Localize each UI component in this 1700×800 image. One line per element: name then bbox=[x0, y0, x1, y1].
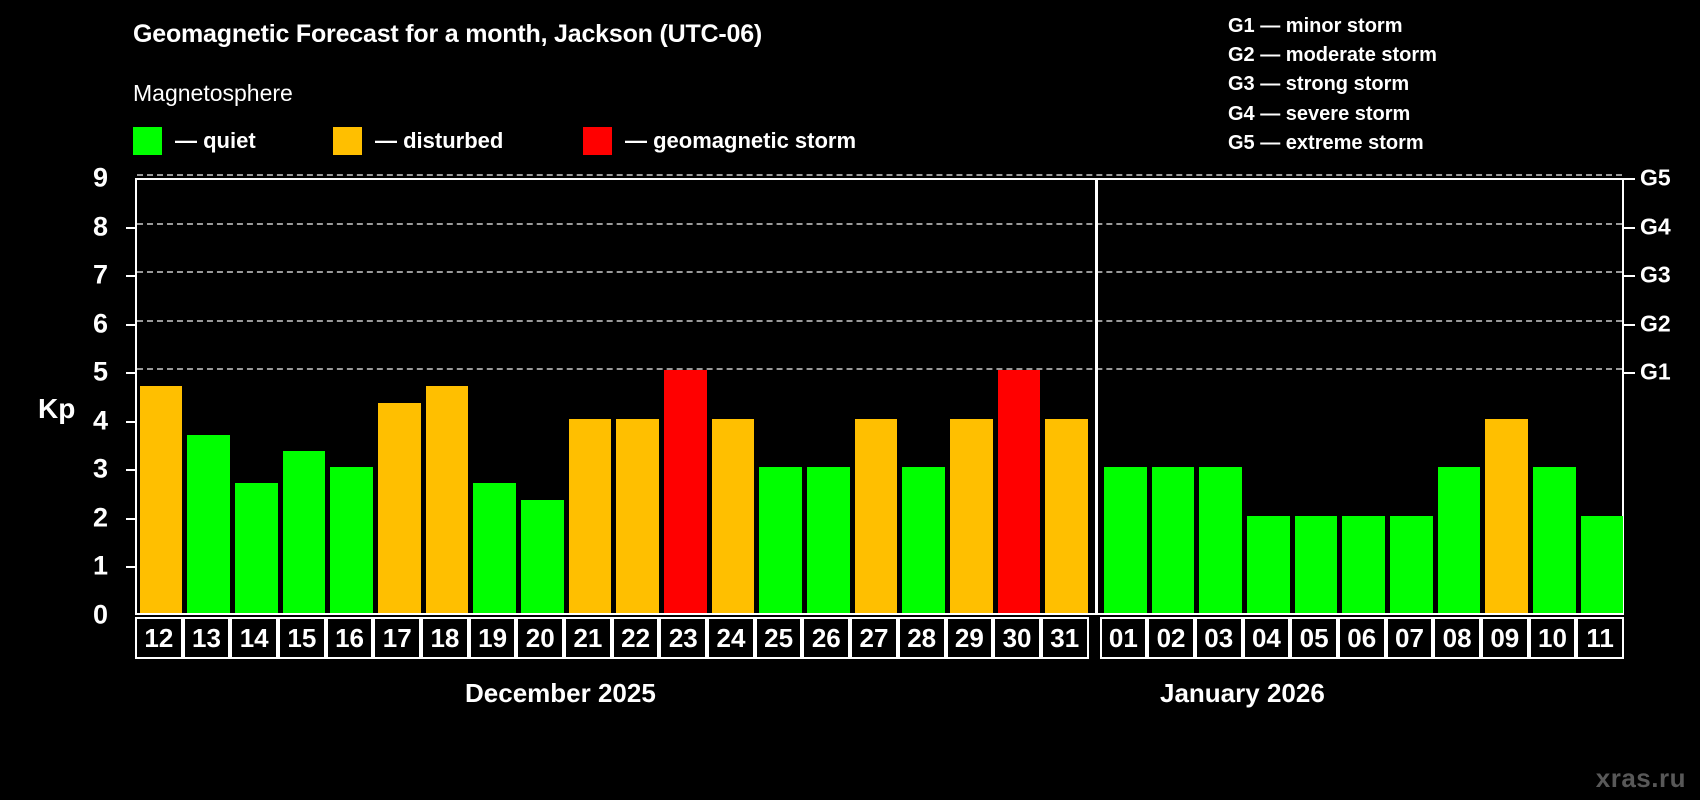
g-tick-label-G3: G3 bbox=[1640, 262, 1671, 289]
y-tick-label-8: 8 bbox=[68, 211, 108, 242]
bar-28[interactable] bbox=[902, 467, 945, 613]
day-label-19[interactable]: 19 bbox=[469, 617, 517, 659]
page-title: Geomagnetic Forecast for a month, Jackso… bbox=[133, 20, 762, 49]
g-tick-label-G5: G5 bbox=[1640, 165, 1671, 192]
legend-swatch-quiet-icon bbox=[133, 127, 162, 155]
y-tick-label-2: 2 bbox=[68, 502, 108, 533]
bar-31[interactable] bbox=[1045, 419, 1088, 613]
month-divider bbox=[1095, 178, 1098, 615]
legend-swatch-disturbed-icon bbox=[333, 127, 362, 155]
day-label-12[interactable]: 12 bbox=[135, 617, 183, 659]
bar-08[interactable] bbox=[1438, 467, 1481, 613]
bar-25[interactable] bbox=[759, 467, 802, 613]
day-label-08[interactable]: 08 bbox=[1433, 617, 1481, 659]
legend-swatch-storm-icon bbox=[583, 127, 612, 155]
y-tick-label-9: 9 bbox=[68, 163, 108, 194]
legend-item-storm: — geomagnetic storm bbox=[583, 127, 856, 155]
g-scale-row-2: G2 — moderate storm bbox=[1228, 41, 1437, 70]
day-label-20[interactable]: 20 bbox=[516, 617, 564, 659]
y-tick-label-3: 3 bbox=[68, 454, 108, 485]
y-tick-label-6: 6 bbox=[68, 308, 108, 339]
day-label-strip: 1213141516171819202122232425262728293031… bbox=[135, 617, 1624, 659]
bars-layer bbox=[137, 180, 1622, 613]
day-label-28[interactable]: 28 bbox=[898, 617, 946, 659]
g-tick-mark-G1 bbox=[1624, 372, 1635, 374]
day-label-18[interactable]: 18 bbox=[421, 617, 469, 659]
bar-01[interactable] bbox=[1104, 467, 1147, 613]
legend-label-quiet: — quiet bbox=[175, 128, 256, 154]
month-label-first: December 2025 bbox=[465, 678, 656, 709]
y-tick-label-5: 5 bbox=[68, 357, 108, 388]
day-label-05[interactable]: 05 bbox=[1290, 617, 1338, 659]
legend-item-disturbed: — disturbed bbox=[333, 127, 503, 155]
bar-26[interactable] bbox=[807, 467, 850, 613]
day-label-07[interactable]: 07 bbox=[1386, 617, 1434, 659]
bar-13[interactable] bbox=[187, 435, 230, 613]
bar-10[interactable] bbox=[1533, 467, 1576, 613]
bar-19[interactable] bbox=[473, 483, 516, 613]
day-label-16[interactable]: 16 bbox=[326, 617, 374, 659]
bar-17[interactable] bbox=[378, 403, 421, 613]
day-label-31[interactable]: 31 bbox=[1041, 617, 1089, 659]
g-scale-row-1: G1 — minor storm bbox=[1228, 12, 1437, 41]
bar-07[interactable] bbox=[1390, 516, 1433, 613]
day-label-13[interactable]: 13 bbox=[183, 617, 231, 659]
bar-27[interactable] bbox=[855, 419, 898, 613]
day-label-17[interactable]: 17 bbox=[373, 617, 421, 659]
month-label-second: January 2026 bbox=[1160, 678, 1325, 709]
day-label-02[interactable]: 02 bbox=[1147, 617, 1195, 659]
bar-23[interactable] bbox=[664, 370, 707, 613]
g-scale-row-4: G4 — severe storm bbox=[1228, 100, 1437, 129]
g-tick-mark-G2 bbox=[1624, 324, 1635, 326]
day-label-03[interactable]: 03 bbox=[1195, 617, 1243, 659]
gridline-kp-9 bbox=[137, 174, 1622, 176]
day-label-04[interactable]: 04 bbox=[1243, 617, 1291, 659]
bar-06[interactable] bbox=[1342, 516, 1385, 613]
day-label-24[interactable]: 24 bbox=[707, 617, 755, 659]
bar-21[interactable] bbox=[569, 419, 612, 613]
day-label-06[interactable]: 06 bbox=[1338, 617, 1386, 659]
day-label-01[interactable]: 01 bbox=[1100, 617, 1148, 659]
y-tick-label-7: 7 bbox=[68, 260, 108, 291]
bar-03[interactable] bbox=[1199, 467, 1242, 613]
day-label-21[interactable]: 21 bbox=[564, 617, 612, 659]
bar-20[interactable] bbox=[521, 500, 564, 613]
g-tick-label-G2: G2 bbox=[1640, 310, 1671, 337]
g-tick-label-G1: G1 bbox=[1640, 359, 1671, 386]
bar-11[interactable] bbox=[1581, 516, 1624, 613]
bar-02[interactable] bbox=[1152, 467, 1195, 613]
chart-subtitle: Magnetosphere bbox=[133, 80, 293, 107]
g-scale-row-5: G5 — extreme storm bbox=[1228, 129, 1437, 158]
legend-label-disturbed: — disturbed bbox=[375, 128, 503, 154]
bar-22[interactable] bbox=[616, 419, 659, 613]
day-label-15[interactable]: 15 bbox=[278, 617, 326, 659]
bar-05[interactable] bbox=[1295, 516, 1338, 613]
day-label-22[interactable]: 22 bbox=[612, 617, 660, 659]
bar-04[interactable] bbox=[1247, 516, 1290, 613]
day-label-09[interactable]: 09 bbox=[1481, 617, 1529, 659]
g-scale-row-3: G3 — strong storm bbox=[1228, 70, 1437, 99]
day-label-14[interactable]: 14 bbox=[230, 617, 278, 659]
bar-29[interactable] bbox=[950, 419, 993, 613]
bar-15[interactable] bbox=[283, 451, 326, 613]
y-tick-label-1: 1 bbox=[68, 551, 108, 582]
g-tick-mark-G4 bbox=[1624, 227, 1635, 229]
bar-18[interactable] bbox=[426, 386, 469, 613]
bar-30[interactable] bbox=[998, 370, 1041, 613]
day-label-10[interactable]: 10 bbox=[1529, 617, 1577, 659]
day-label-27[interactable]: 27 bbox=[850, 617, 898, 659]
watermark: xras.ru bbox=[1596, 763, 1686, 794]
bar-09[interactable] bbox=[1485, 419, 1528, 613]
bar-12[interactable] bbox=[140, 386, 183, 613]
legend-label-storm: — geomagnetic storm bbox=[625, 128, 856, 154]
g-tick-mark-G5 bbox=[1624, 178, 1635, 180]
bar-14[interactable] bbox=[235, 483, 278, 613]
chart-canvas: Geomagnetic Forecast for a month, Jackso… bbox=[0, 0, 1700, 800]
y-tick-label-0: 0 bbox=[68, 600, 108, 631]
y-axis-label: Kp bbox=[38, 393, 75, 425]
g-scale-legend: G1 — minor stormG2 — moderate stormG3 — … bbox=[1228, 12, 1437, 158]
day-label-29[interactable]: 29 bbox=[946, 617, 994, 659]
day-label-23[interactable]: 23 bbox=[659, 617, 707, 659]
day-label-25[interactable]: 25 bbox=[755, 617, 803, 659]
bar-16[interactable] bbox=[330, 467, 373, 613]
bar-24[interactable] bbox=[712, 419, 755, 613]
legend-item-quiet: — quiet bbox=[133, 127, 256, 155]
plot-area bbox=[135, 178, 1624, 615]
day-label-11[interactable]: 11 bbox=[1576, 617, 1624, 659]
g-tick-label-G4: G4 bbox=[1640, 213, 1671, 240]
day-label-26[interactable]: 26 bbox=[802, 617, 850, 659]
day-label-30[interactable]: 30 bbox=[993, 617, 1041, 659]
g-tick-mark-G3 bbox=[1624, 275, 1635, 277]
